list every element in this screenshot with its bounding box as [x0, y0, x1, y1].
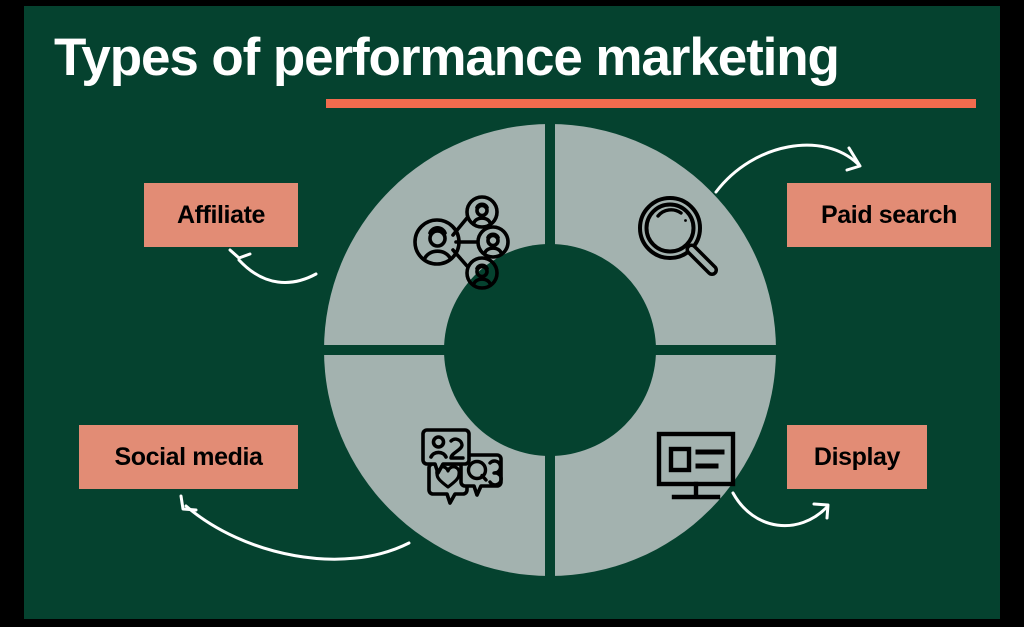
slide-root: Types of performance marketing — [0, 0, 1024, 627]
label-chip-affiliate-text: Affiliate — [177, 201, 265, 230]
people-network-icon — [403, 186, 515, 298]
label-chip-social-media-text: Social media — [114, 443, 262, 472]
label-chip-paid-search[interactable]: Paid search — [787, 183, 991, 247]
label-chip-paid-search-text: Paid search — [821, 201, 957, 230]
slide-canvas: Types of performance marketing — [24, 6, 1000, 619]
page-title-text: Types of performance marketing — [54, 22, 839, 94]
curved-arrow-up-left — [230, 250, 316, 282]
monitor-ad-icon — [652, 424, 740, 512]
label-chip-social-media[interactable]: Social media — [79, 425, 298, 489]
label-chip-display[interactable]: Display — [787, 425, 927, 489]
magnifying-glass-icon — [630, 188, 726, 284]
label-chip-affiliate[interactable]: Affiliate — [144, 183, 298, 247]
label-chip-display-text: Display — [814, 443, 900, 472]
page-title: Types of performance marketing — [54, 22, 984, 108]
title-underline-accent — [326, 99, 976, 108]
speech-bubbles-icon — [419, 422, 511, 514]
